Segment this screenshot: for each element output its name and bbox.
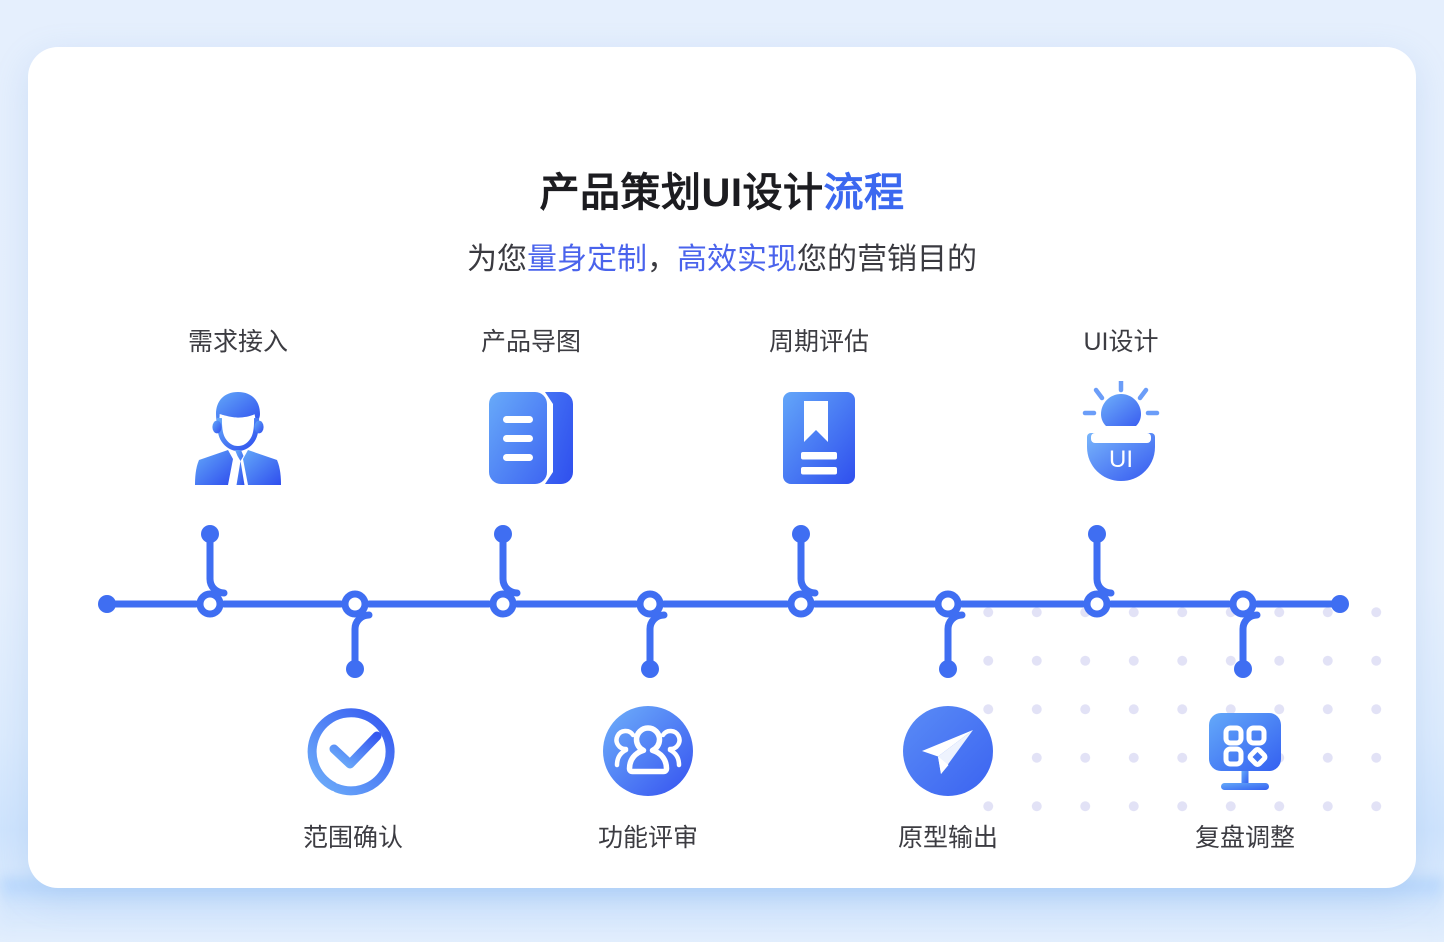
step-top-2-label: 产品导图 (381, 330, 681, 355)
step-bottom-3-label: 原型输出 (798, 826, 1098, 851)
step-bottom-2-label: 功能评审 (498, 826, 798, 851)
step-top-2[interactable]: 产品导图 (381, 330, 681, 493)
bookmark-book-icon (669, 383, 969, 493)
process-timeline (28, 509, 1416, 689)
ui-badge-text: UI (1109, 446, 1133, 473)
timeline-branch-up-2 (503, 534, 517, 593)
step-bottom-4-label: 复盘调整 (1095, 826, 1395, 851)
page-subtitle: 为您量身定制，高效实现您的营销目的 (28, 234, 1416, 278)
timeline-node-ring-5 (791, 594, 811, 614)
step-bottom-1-label: 范围确认 (203, 826, 503, 851)
timeline-up-dot-1 (201, 525, 219, 543)
timeline-branch-up-1 (210, 534, 224, 593)
step-bottom-3[interactable]: 原型输出 (798, 702, 1098, 851)
businessman-icon (88, 383, 388, 493)
subtitle-pre: 为您 (467, 243, 527, 276)
timeline-start-dot (98, 595, 116, 613)
user-group-circle-icon (498, 702, 798, 800)
ui-lightbulb-icon: UI (971, 377, 1271, 487)
step-bottom-1[interactable]: 范围确认 (203, 702, 503, 851)
timeline-node-ring-3 (493, 594, 513, 614)
paper-plane-circle-icon (798, 702, 1098, 800)
subtitle-accent-2: 高效实现 (677, 243, 797, 276)
step-top-4[interactable]: UI设计 (971, 330, 1271, 487)
timeline-node-ring-6 (938, 594, 958, 614)
step-bottom-4[interactable]: 复盘调整 (1095, 702, 1395, 851)
timeline-down-dot-1 (346, 660, 364, 678)
subtitle-post: 您的营销目的 (797, 243, 977, 276)
content-card: 产品策划UI设计流程 为您量身定制，高效实现您的营销目的 需求接入 (28, 47, 1416, 888)
timeline-down-dot-4 (1234, 660, 1252, 678)
subtitle-mid: ， (647, 243, 677, 276)
step-top-4-label: UI设计 (971, 330, 1271, 355)
timeline-up-dot-2 (494, 525, 512, 543)
check-circle-icon (203, 702, 503, 800)
timeline-node-ring-8 (1233, 594, 1253, 614)
timeline-up-dot-4 (1088, 525, 1106, 543)
page-title-accent: 流程 (824, 171, 905, 215)
timeline-up-dot-3 (792, 525, 810, 543)
step-top-3[interactable]: 周期评估 (669, 330, 969, 493)
timeline-down-dot-3 (939, 660, 957, 678)
step-top-1-label: 需求接入 (88, 330, 388, 355)
step-bottom-2[interactable]: 功能评审 (498, 702, 798, 851)
step-top-3-label: 周期评估 (669, 330, 969, 355)
timeline-down-dot-2 (641, 660, 659, 678)
timeline-node-ring-1 (200, 594, 220, 614)
timeline-branch-up-4 (1097, 534, 1111, 593)
timeline-node-ring-4 (640, 594, 660, 614)
timeline-node-ring-2 (345, 594, 365, 614)
dashboard-monitor-icon (1095, 702, 1395, 800)
document-book-icon (381, 383, 681, 493)
page-title-plain: 产品策划UI设计 (540, 171, 824, 215)
step-top-1[interactable]: 需求接入 (88, 330, 388, 493)
timeline-end-dot (1331, 595, 1349, 613)
page-title: 产品策划UI设计流程 (28, 160, 1416, 218)
timeline-node-ring-7 (1087, 594, 1107, 614)
subtitle-accent-1: 量身定制 (527, 243, 647, 276)
timeline-branch-up-3 (801, 534, 815, 593)
